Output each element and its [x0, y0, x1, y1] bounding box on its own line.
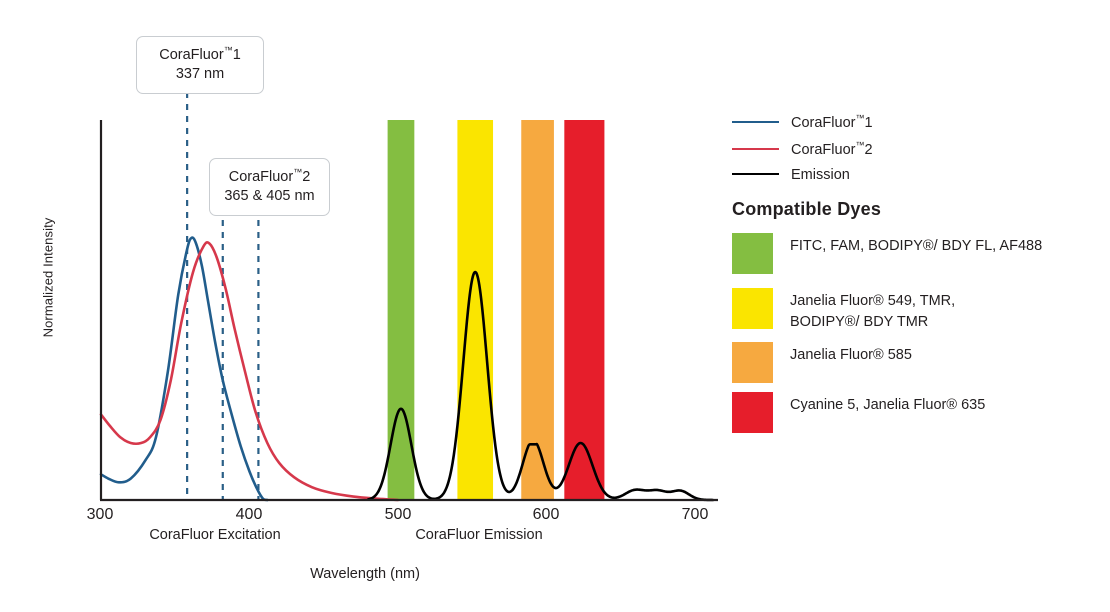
x-tick-700: 700 — [665, 506, 725, 524]
legend-swatch-line-corafluor-2 — [732, 148, 779, 150]
dye-label-orange: Janelia Fluor® 585 — [790, 342, 912, 366]
x-tick-500: 500 — [368, 506, 428, 524]
callout-2-line2: 365 & 405 nm — [220, 187, 319, 206]
legend-item-emission: Emission — [732, 165, 850, 183]
dye-label-yellow: Janelia Fluor® 549, TMR, BODIPY®/ BDY TM… — [790, 288, 955, 332]
dye-band-2 — [521, 120, 554, 500]
callout-corafluor-1: CoraFluor™1 337 nm — [136, 36, 264, 94]
x-tick-600: 600 — [516, 506, 576, 524]
legend-label-corafluor-2: CoraFluor™2 — [791, 140, 873, 158]
legend-panel: CoraFluor™1 CoraFluor™2 Emission Compati… — [730, 0, 1110, 612]
callout-corafluor-2: CoraFluor™2 365 & 405 nm — [209, 158, 330, 216]
dye-item-orange: Janelia Fluor® 585 — [732, 342, 912, 383]
section-label-excitation: CoraFluor Excitation — [85, 527, 345, 543]
section-label-emission: CoraFluor Emission — [349, 527, 609, 543]
dye-swatch-yellow — [732, 288, 773, 329]
callout-1-line2: 337 nm — [147, 65, 253, 84]
dye-band-3 — [564, 120, 604, 500]
dye-item-red: Cyanine 5, Janelia Fluor® 635 — [732, 392, 985, 433]
excitation-curve-0 — [101, 238, 267, 500]
dye-swatch-orange — [732, 342, 773, 383]
legend-item-corafluor-2: CoraFluor™2 — [732, 140, 873, 158]
x-tick-300: 300 — [70, 506, 130, 524]
dye-item-green: FITC, FAM, BODIPY®/ BDY FL, AF488 — [732, 233, 1042, 274]
excitation-marker-lines — [187, 92, 258, 500]
legend-label-corafluor-1: CoraFluor™1 — [791, 113, 873, 131]
compatible-dyes-title: Compatible Dyes — [732, 199, 881, 220]
x-tick-400: 400 — [219, 506, 279, 524]
callout-1-line1: CoraFluor™1 — [147, 45, 253, 65]
legend-label-emission: Emission — [791, 165, 850, 183]
dye-item-yellow: Janelia Fluor® 549, TMR, BODIPY®/ BDY TM… — [732, 288, 955, 332]
legend-item-corafluor-1: CoraFluor™1 — [732, 113, 873, 131]
y-axis-label: Normalized Intensity — [41, 178, 56, 378]
legend-swatch-line-emission — [732, 173, 779, 175]
dye-band-1 — [457, 120, 493, 500]
dye-swatch-green — [732, 233, 773, 274]
x-axis-title: Wavelength (nm) — [235, 566, 495, 582]
legend-swatch-line-corafluor-1 — [732, 121, 779, 123]
dye-label-red: Cyanine 5, Janelia Fluor® 635 — [790, 392, 985, 416]
dye-swatch-red — [732, 392, 773, 433]
dye-label-green: FITC, FAM, BODIPY®/ BDY FL, AF488 — [790, 233, 1042, 257]
chart-plot-area: Normalized Intensity 300 400 500 600 700… — [0, 0, 730, 612]
callout-2-line1: CoraFluor™2 — [220, 167, 319, 187]
